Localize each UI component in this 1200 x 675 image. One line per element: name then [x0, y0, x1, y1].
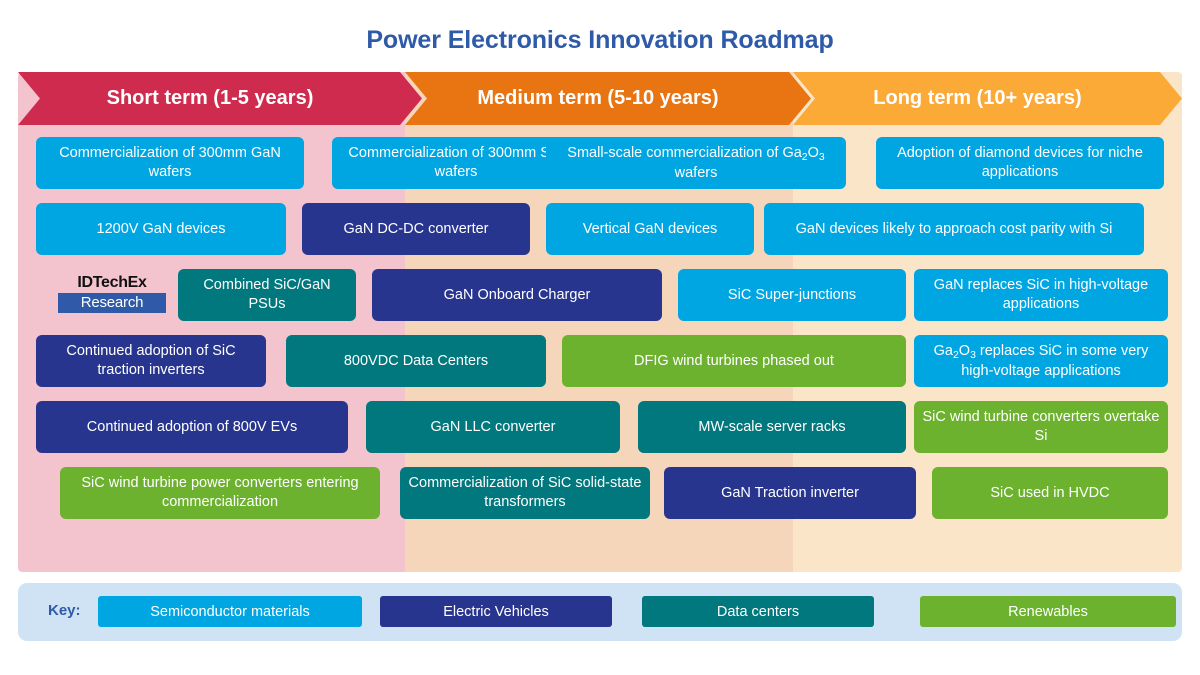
- roadmap-item-semiconductor-materials[interactable]: Vertical GaN devices: [546, 203, 754, 255]
- roadmap-item-label: SiC wind turbine converters overtake Si: [922, 408, 1160, 445]
- roadmap-page: Power Electronics Innovation Roadmap Sho…: [0, 0, 1200, 675]
- roadmap-item-label: Continued adoption of 800V EVs: [87, 418, 297, 437]
- roadmap-item-electric-vehicles[interactable]: Continued adoption of SiC traction inver…: [36, 335, 266, 387]
- phase-header-row: Short term (1-5 years) Medium term (5-10…: [18, 72, 1182, 125]
- roadmap-item-label: GaN replaces SiC in high-voltage applica…: [922, 276, 1160, 313]
- roadmap-item-label: Small-scale commercialization of Ga2O3 w…: [554, 144, 838, 183]
- idtechex-logo-wordmark: IDTechEx: [58, 275, 166, 291]
- roadmap-item-label: SiC Super-junctions: [728, 286, 856, 305]
- roadmap-item-data-centers[interactable]: Commercialization of SiC solid-state tra…: [400, 467, 650, 519]
- roadmap-item-label: Commercialization of 300mm GaN wafers: [44, 144, 296, 181]
- roadmap-item-label: SiC used in HVDC: [990, 484, 1109, 503]
- roadmap-item-label: 1200V GaN devices: [97, 220, 226, 239]
- roadmap-item-label: Continued adoption of SiC traction inver…: [44, 342, 258, 379]
- legend: Key: Semiconductor materials Electric Ve…: [18, 583, 1182, 641]
- roadmap-item-semiconductor-materials[interactable]: GaN devices likely to approach cost pari…: [764, 203, 1144, 255]
- roadmap-item-label: GaN devices likely to approach cost pari…: [796, 220, 1113, 239]
- roadmap-item-data-centers[interactable]: 800VDC Data Centers: [286, 335, 546, 387]
- page-title: Power Electronics Innovation Roadmap: [0, 26, 1200, 55]
- legend-item-semiconductor-materials[interactable]: Semiconductor materials: [98, 596, 362, 627]
- roadmap-item-semiconductor-materials[interactable]: Ga2O3 replaces SiC in some very high-vol…: [914, 335, 1168, 387]
- roadmap-item-semiconductor-materials[interactable]: Commercialization of 300mm GaN wafers: [36, 137, 304, 189]
- idtechex-logo: IDTechEx Research: [58, 275, 166, 313]
- roadmap-item-label: MW-scale server racks: [698, 418, 845, 437]
- roadmap-item-data-centers[interactable]: MW-scale server racks: [638, 401, 906, 453]
- legend-item-renewables[interactable]: Renewables: [920, 596, 1176, 627]
- roadmap-item-label: Commercialization of 300mm SiC wafers: [340, 144, 572, 181]
- legend-label: Key:: [48, 602, 81, 619]
- roadmap-item-electric-vehicles[interactable]: GaN DC-DC converter: [302, 203, 530, 255]
- roadmap-item-label: GaN Traction inverter: [721, 484, 859, 503]
- phase-header-short[interactable]: Short term (1-5 years): [18, 72, 422, 125]
- roadmap-item-data-centers[interactable]: GaN LLC converter: [366, 401, 620, 453]
- roadmap-item-label: Vertical GaN devices: [583, 220, 718, 239]
- roadmap-item-semiconductor-materials[interactable]: Adoption of diamond devices for niche ap…: [876, 137, 1164, 189]
- roadmap-item-label: Commercialization of SiC solid-state tra…: [408, 474, 642, 511]
- roadmap-item-electric-vehicles[interactable]: GaN Onboard Charger: [372, 269, 662, 321]
- roadmap-item-renewables[interactable]: DFIG wind turbines phased out: [562, 335, 906, 387]
- roadmap-item-label: GaN LLC converter: [431, 418, 556, 437]
- roadmap-item-data-centers[interactable]: Combined SiC/GaN PSUs: [178, 269, 356, 321]
- roadmap-item-label: Combined SiC/GaN PSUs: [186, 276, 348, 313]
- roadmap-item-semiconductor-materials[interactable]: 1200V GaN devices: [36, 203, 286, 255]
- roadmap-item-semiconductor-materials[interactable]: GaN replaces SiC in high-voltage applica…: [914, 269, 1168, 321]
- roadmap-item-electric-vehicles[interactable]: Continued adoption of 800V EVs: [36, 401, 348, 453]
- legend-item-data-centers[interactable]: Data centers: [642, 596, 874, 627]
- roadmap-item-label: SiC wind turbine power converters enteri…: [68, 474, 372, 511]
- roadmap-item-label: GaN DC-DC converter: [343, 220, 488, 239]
- roadmap-item-label: GaN Onboard Charger: [444, 286, 591, 305]
- roadmap-item-semiconductor-materials[interactable]: Small-scale commercialization of Ga2O3 w…: [546, 137, 846, 189]
- roadmap-item-semiconductor-materials[interactable]: SiC Super-junctions: [678, 269, 906, 321]
- roadmap-item-label: DFIG wind turbines phased out: [634, 352, 834, 371]
- roadmap-item-semiconductor-materials[interactable]: Commercialization of 300mm SiC wafers: [332, 137, 580, 189]
- legend-item-electric-vehicles[interactable]: Electric Vehicles: [380, 596, 612, 627]
- idtechex-logo-research: Research: [58, 293, 166, 313]
- roadmap-item-renewables[interactable]: SiC used in HVDC: [932, 467, 1168, 519]
- roadmap-item-label: 800VDC Data Centers: [344, 352, 488, 371]
- roadmap-items: IDTechEx Research Commercialization of 3…: [18, 125, 1182, 572]
- roadmap-panel: Short term (1-5 years) Medium term (5-10…: [18, 72, 1182, 572]
- phase-header-long[interactable]: Long term (10+ years): [793, 72, 1182, 125]
- roadmap-item-electric-vehicles[interactable]: GaN Traction inverter: [664, 467, 916, 519]
- roadmap-item-renewables[interactable]: SiC wind turbine power converters enteri…: [60, 467, 380, 519]
- phase-header-medium[interactable]: Medium term (5-10 years): [405, 72, 811, 125]
- roadmap-item-label: Adoption of diamond devices for niche ap…: [884, 144, 1156, 181]
- roadmap-item-renewables[interactable]: SiC wind turbine converters overtake Si: [914, 401, 1168, 453]
- roadmap-item-label: Ga2O3 replaces SiC in some very high-vol…: [922, 342, 1160, 381]
